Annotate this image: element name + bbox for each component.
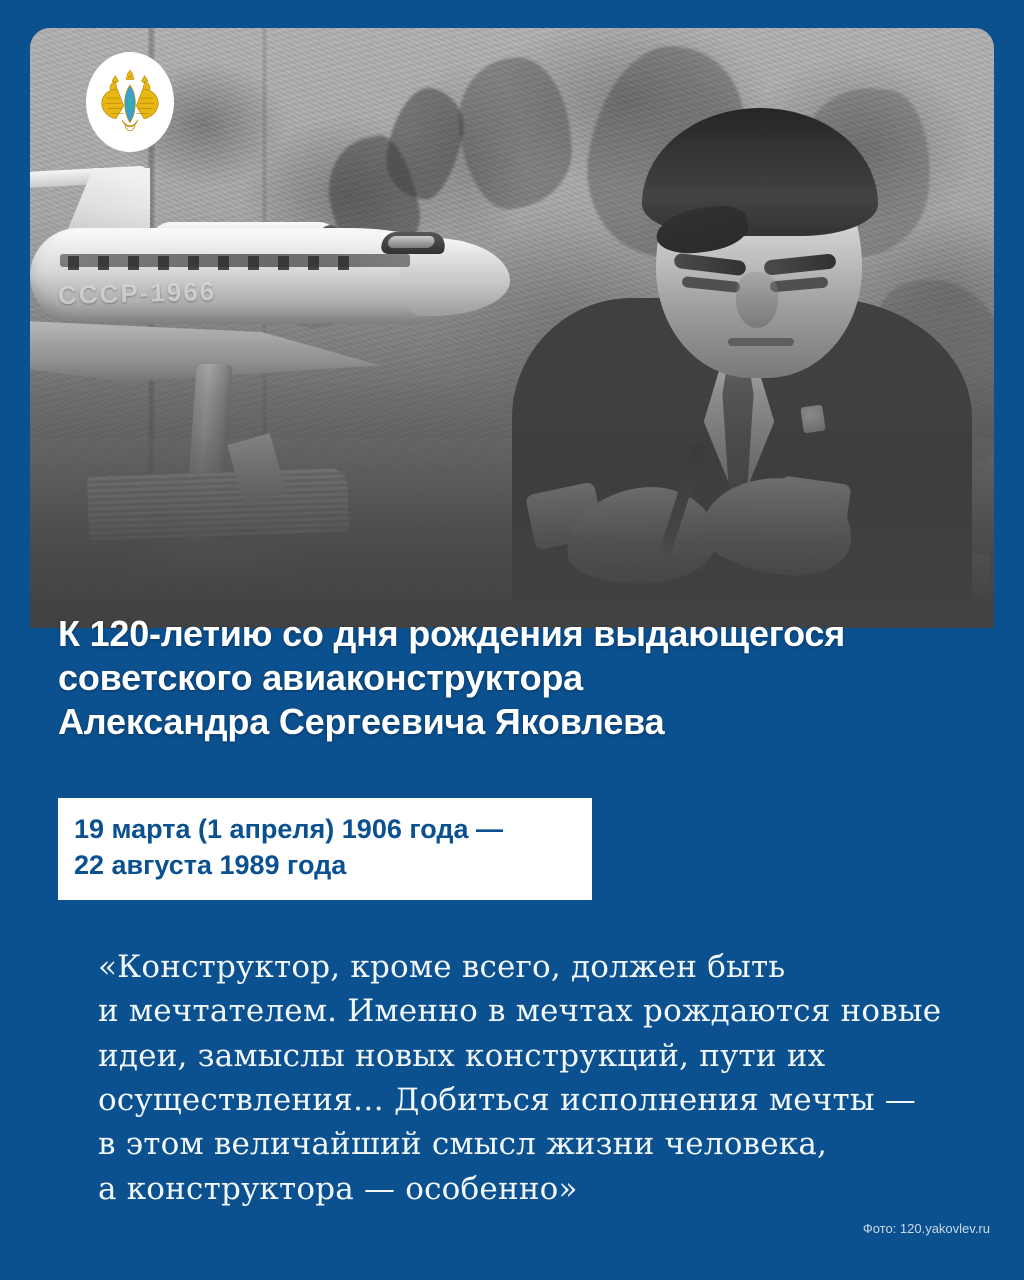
hero-photo: СССР-1966 [30,28,994,628]
quote-line-2: и мечтателем. Именно в мечтах рождаются … [98,989,1024,1033]
poster-root: СССР-1966 [0,0,1024,1280]
headline-line-2: советского авиаконструктора [58,656,978,700]
photo-credit: Фото: 120.yakovlev.ru [863,1222,990,1235]
quote-line-1: «Конструктор, кроме всего, должен быть [98,945,1024,989]
quote-line-3: идеи, замыслы новых конструкций, пути их [98,1034,1024,1078]
double-headed-eagle-icon [98,66,162,138]
quote-line-4: осуществления… Добиться исполнения мечты… [98,1078,1024,1122]
quote-line-5: в этом величайший смысл жизни человека, [98,1122,1024,1166]
headline-line-3: Александра Сергеевича Яковлева [58,700,978,744]
life-dates-line-2: 22 августа 1989 года [74,848,576,884]
photo-stage: СССР-1966 [30,28,994,628]
life-dates-line-1: 19 марта (1 апреля) 1906 года — [74,812,576,848]
pull-quote: «Конструктор, кроме всего, должен быть и… [98,945,1024,1211]
photo-fade-overlay [30,28,994,628]
russian-eagle-emblem-badge [86,52,174,152]
quote-line-6: а конструктора — особенно» [98,1167,1024,1211]
page-title: К 120-летию со дня рождения выдающегося … [58,612,978,744]
headline-line-1: К 120-летию со дня рождения выдающегося [58,612,978,656]
life-dates-badge: 19 марта (1 апреля) 1906 года — 22 авгус… [58,798,592,900]
